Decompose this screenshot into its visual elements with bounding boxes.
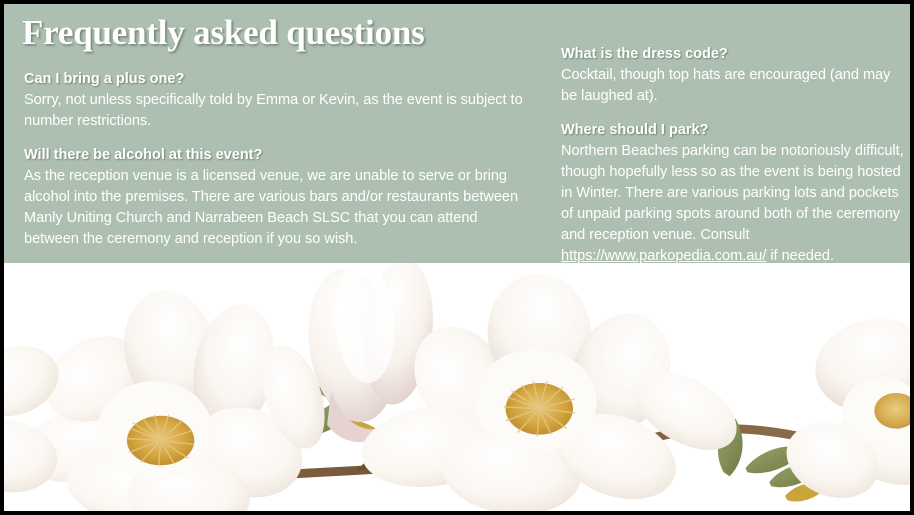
- faq-question: Will there be alcohol at this event?: [24, 146, 524, 165]
- faq-answer: Sorry, not unless specifically told by E…: [24, 90, 524, 132]
- faq-right-column: What is the dress code? Cocktail, though…: [561, 45, 909, 267]
- faq-item-dress-code: What is the dress code? Cocktail, though…: [561, 45, 909, 107]
- faq-answer-text-after-link: if needed.: [766, 248, 834, 264]
- faq-item-plus-one: Can I bring a plus one? Sorry, not unles…: [24, 70, 524, 132]
- faq-question: Can I bring a plus one?: [24, 70, 524, 89]
- magnolia-photo: [4, 263, 910, 511]
- faq-item-parking: Where should I park? Northern Beaches pa…: [561, 121, 909, 267]
- faq-answer: Cocktail, though top hats are encouraged…: [561, 65, 909, 107]
- faq-answer: Northern Beaches parking can be notoriou…: [561, 141, 909, 267]
- faq-page: Frequently asked questions Can I bring a…: [0, 0, 914, 515]
- faq-answer-text-before-link: Northern Beaches parking can be notoriou…: [561, 143, 904, 243]
- faq-question: What is the dress code?: [561, 45, 909, 64]
- faq-item-alcohol: Will there be alcohol at this event? As …: [24, 146, 524, 250]
- magnolia-illustration: [4, 263, 910, 511]
- faq-left-column: Can I bring a plus one? Sorry, not unles…: [24, 70, 524, 250]
- parkopedia-link[interactable]: https://www.parkopedia.com.au/: [561, 248, 766, 264]
- faq-columns: Can I bring a plus one? Sorry, not unles…: [4, 4, 910, 263]
- faq-answer: As the reception venue is a licensed ven…: [24, 166, 524, 250]
- faq-question: Where should I park?: [561, 121, 909, 140]
- faq-section: Frequently asked questions Can I bring a…: [4, 4, 910, 263]
